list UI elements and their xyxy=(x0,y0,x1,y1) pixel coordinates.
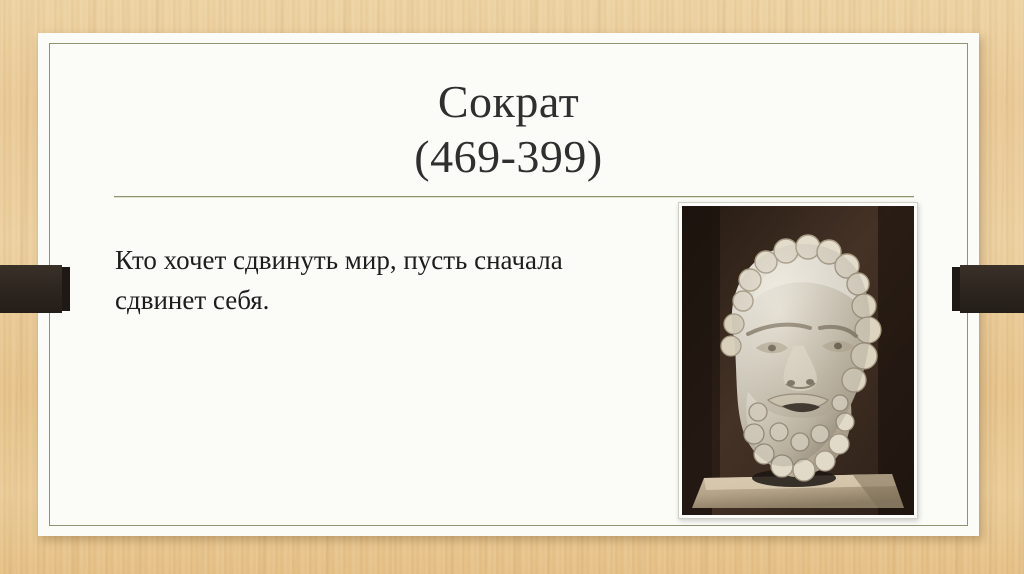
page-subtitle-dates: (469-399) xyxy=(38,127,979,182)
ribbon-right-decoration xyxy=(960,265,1024,313)
photo-frame xyxy=(678,202,918,519)
page-title: Сократ xyxy=(38,33,979,127)
socrates-bust-photo xyxy=(682,206,914,515)
title-divider-rule xyxy=(114,196,914,198)
content-card: Сократ (469-399) Кто хочет сдвинуть мир,… xyxy=(38,33,979,536)
ribbon-left-decoration xyxy=(0,265,62,313)
quote-text: Кто хочет сдвинуть мир, пусть сначала сд… xyxy=(115,241,595,321)
slide-canvas: Сократ (469-399) Кто хочет сдвинуть мир,… xyxy=(0,0,1024,574)
title-block: Сократ (469-399) xyxy=(38,33,979,182)
